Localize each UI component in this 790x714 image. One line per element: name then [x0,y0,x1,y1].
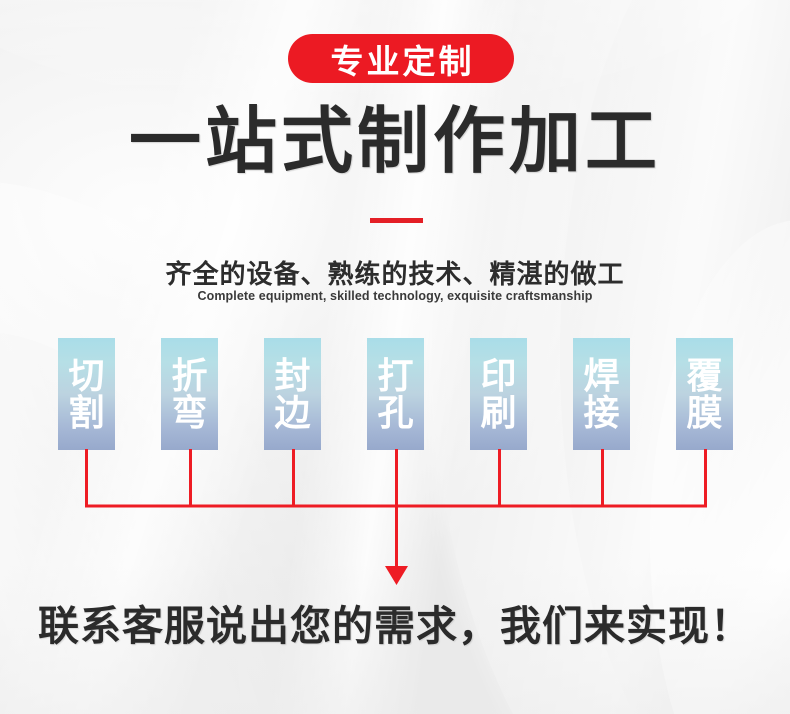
process-box-char-top: 覆 [686,357,722,394]
process-box-char-top: 印 [480,357,516,394]
promo-banner: 专业定制 一站式制作加工 齐全的设备、熟练的技术、精湛的做工 Complete … [0,0,790,714]
process-box-char-top: 切 [68,357,104,394]
process-box-char-top: 封 [274,357,310,394]
subtitle-english: Complete equipment, skilled technology, … [0,289,790,303]
process-box: 切 割 [58,338,115,450]
title-divider [370,218,423,223]
process-box-char-top: 打 [377,357,413,394]
process-box-char-top: 折 [171,357,207,394]
process-box-char-bottom: 边 [274,394,310,431]
process-box-char-bottom: 孔 [377,394,413,431]
subtitle-chinese: 齐全的设备、熟练的技术、精湛的做工 [0,254,790,291]
process-box-list: 切 割 折 弯 封 边 打 孔 印 刷 焊 接 [58,338,733,450]
process-box: 印 刷 [470,338,527,450]
process-box-char-top: 焊 [583,357,619,394]
custom-made-badge: 专业定制 [288,34,514,83]
process-box: 打 孔 [367,338,424,450]
process-box: 封 边 [264,338,321,450]
process-box-char-bottom: 弯 [171,394,207,431]
call-to-action-text: 联系客服说出您的需求，我们来实现！ [0,592,790,652]
process-box-char-bottom: 刷 [480,394,516,431]
flow-connector-diagram [0,440,790,590]
process-box: 折 弯 [161,338,218,450]
page-title: 一站式制作加工 [0,106,790,178]
process-box: 焊 接 [573,338,630,450]
down-arrow-icon [385,566,408,585]
process-box-char-bottom: 割 [68,394,104,431]
process-box: 覆 膜 [676,338,733,450]
process-box-char-bottom: 接 [583,394,619,431]
process-box-char-bottom: 膜 [686,394,722,431]
